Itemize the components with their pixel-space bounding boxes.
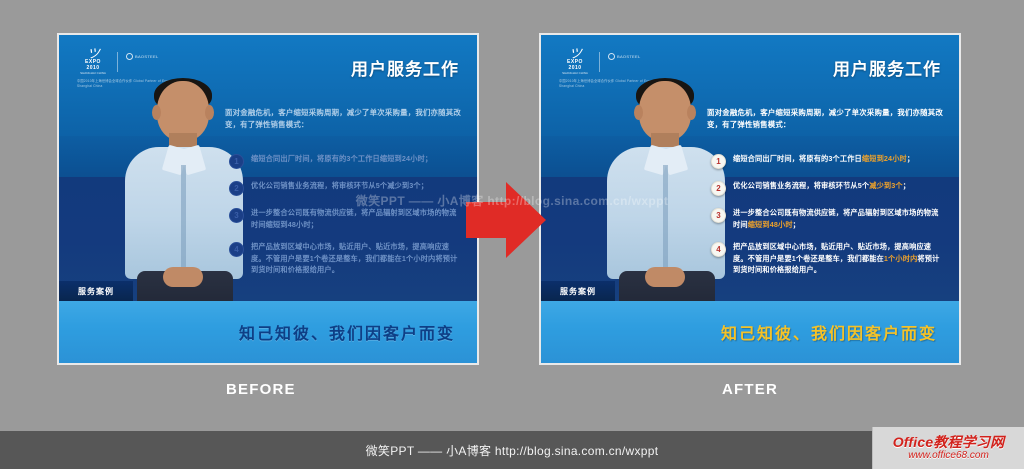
bullet-number-badge: 3 [711, 208, 726, 223]
bullet-text-plain: 优化公司销售业务流程，将审核环节从5个 [733, 181, 869, 190]
bullet-text: 缩短合同出厂时间，将原有的3个工作日缩短到24小时； [251, 153, 432, 165]
partner-dot-icon [608, 53, 615, 60]
partner-logo-icon: BAOSTEEL [126, 53, 159, 60]
bullet-text: 把产品放到区域中心市场，贴近用户、贴近市场，提高响应速度。不管用户是要1个卷还是… [733, 241, 945, 276]
photo-hands [163, 267, 203, 287]
photo-placket [663, 165, 668, 277]
logo-divider [117, 52, 118, 72]
bullet-list: 1 缩短合同出厂时间，将原有的3个工作日缩短到24小时； 2 优化公司销售业务流… [229, 153, 463, 287]
bullet-text-highlight: 减少到3个 [869, 181, 903, 190]
bullet-number-badge: 3 [229, 208, 244, 223]
slide-bottom-banner: 知己知彼、我们因客户而变 [541, 301, 959, 363]
bullet-number-badge: 4 [711, 242, 726, 257]
bullet-text: 缩短合同出厂时间，将原有的3个工作日缩短到24小时； [733, 153, 914, 165]
photo-head [639, 81, 691, 141]
intro-paragraph: 面对金融危机，客户缩短采购周期，减少了单次采购量，我们亦随其改变，有了弹性销售模… [707, 107, 943, 131]
bullet-number-badge: 1 [711, 154, 726, 169]
bullet-text: 优化公司销售业务流程，将审核环节从5个减少到3个； [251, 180, 428, 192]
bullet-number-badge: 1 [229, 154, 244, 169]
photo-head [157, 81, 209, 141]
photo-ear-left [634, 105, 643, 120]
arrow-shaft [466, 202, 510, 238]
brand-url: www.office68.com [908, 450, 989, 461]
bullet-text: 把产品放到区域中心市场，贴近用户、贴近市场，提高响应速度。不管用户是要1个卷还是… [251, 241, 463, 276]
site-brand-logo[interactable]: Office教程学习网 www.office68.com [872, 427, 1024, 469]
photo-ear-left [152, 105, 161, 120]
expo-mark-glyph: ツ [559, 49, 591, 59]
bullet-text-tail: ； [903, 181, 910, 190]
bullet-text: 进一步整合公司既有物流供应链，将产品辐射到区域市场的物流时间缩短到48小时； [251, 207, 463, 230]
slide-before: ツ EXPO 2010 SHANGHAI CHINA BAOSTEEL 中国20… [57, 33, 479, 365]
slide-title: 用户服务工作 [833, 55, 941, 80]
comparison-stage: ツ EXPO 2010 SHANGHAI CHINA BAOSTEEL 中国20… [0, 0, 1024, 469]
logo-divider [599, 52, 600, 72]
logo-group: ツ EXPO 2010 SHANGHAI CHINA BAOSTEEL [77, 49, 159, 75]
bullet-number-badge: 2 [711, 181, 726, 196]
expo-logo-icon: ツ EXPO 2010 SHANGHAI CHINA [559, 49, 591, 75]
list-item: 3 进一步整合公司既有物流供应链，将产品辐射到区域市场的物流时间缩短到48小时； [711, 207, 945, 230]
list-item: 2 优化公司销售业务流程，将审核环节从5个减少到3个； [711, 180, 945, 196]
slide-title: 用户服务工作 [351, 55, 459, 80]
arrow-head [506, 182, 546, 258]
list-item: 2 优化公司销售业务流程，将审核环节从5个减少到3个； [229, 180, 463, 196]
bullet-number-badge: 2 [229, 181, 244, 196]
list-item: 3 进一步整合公司既有物流供应链，将产品辐射到区域市场的物流时间缩短到48小时； [229, 207, 463, 230]
partner-name: BAOSTEEL [135, 54, 159, 59]
bullet-number-badge: 4 [229, 242, 244, 257]
photo-ear-right [205, 105, 214, 120]
partner-logo-icon: BAOSTEEL [608, 53, 641, 60]
bullet-text: 优化公司销售业务流程，将审核环节从5个减少到3个； [733, 180, 910, 192]
case-tag: 服务案例 [541, 281, 615, 301]
photo-ear-right [687, 105, 696, 120]
footer-text: 微笑PPT —— 小A博客 http://blog.sina.com.cn/wx… [366, 442, 659, 459]
banner-text: 知己知彼、我们因客户而变 [721, 320, 937, 344]
slide-bottom-banner: 知己知彼、我们因客户而变 [59, 301, 477, 363]
red-right-arrow-icon [466, 182, 546, 258]
photo-placket [181, 165, 186, 277]
slide-after: ツ EXPO 2010 SHANGHAI CHINA BAOSTEEL 中国20… [539, 33, 961, 365]
list-item: 4 把产品放到区域中心市场，贴近用户、贴近市场，提高响应速度。不管用户是要1个卷… [229, 241, 463, 276]
bullet-list: 1 缩短合同出厂时间，将原有的3个工作日缩短到24小时； 2 优化公司销售业务流… [711, 153, 945, 287]
expo-city: SHANGHAI CHINA [559, 71, 591, 75]
list-item: 4 把产品放到区域中心市场，贴近用户、贴近市场，提高响应速度。不管用户是要1个卷… [711, 241, 945, 276]
brand-title: Office教程学习网 [893, 435, 1005, 450]
bullet-text-plain: 缩短合同出厂时间，将原有的3个工作日 [733, 154, 862, 163]
list-item: 1 缩短合同出厂时间，将原有的3个工作日缩短到24小时； [711, 153, 945, 169]
bullet-text-highlight: 缩短到48小时 [748, 220, 793, 229]
expo-logo-icon: ツ EXPO 2010 SHANGHAI CHINA [77, 49, 109, 75]
intro-paragraph: 面对金融危机，客户缩短采购周期，减少了单次采购量，我们亦随其改变，有了弹性销售模… [225, 107, 461, 131]
bullet-text-tail: ； [793, 220, 800, 229]
bullet-text: 进一步整合公司既有物流供应链，将产品辐射到区域市场的物流时间缩短到48小时； [733, 207, 945, 230]
label-after: AFTER [722, 381, 778, 398]
expo-city: SHANGHAI CHINA [77, 71, 109, 75]
expo-mark-glyph: ツ [77, 49, 109, 59]
label-before: BEFORE [226, 381, 296, 398]
bullet-text-highlight: 缩短到24小时 [862, 154, 907, 163]
photo-hands [645, 267, 685, 287]
partner-dot-icon [126, 53, 133, 60]
list-item: 1 缩短合同出厂时间，将原有的3个工作日缩短到24小时； [229, 153, 463, 169]
banner-text: 知己知彼、我们因客户而变 [239, 320, 455, 344]
bullet-text-highlight: 1个小时内 [884, 254, 918, 263]
partner-name: BAOSTEEL [617, 54, 641, 59]
bullet-text-tail: ； [907, 154, 914, 163]
footer-bar: 微笑PPT —— 小A博客 http://blog.sina.com.cn/wx… [0, 431, 1024, 469]
case-tag: 服务案例 [59, 281, 133, 301]
logo-group: ツ EXPO 2010 SHANGHAI CHINA BAOSTEEL [559, 49, 641, 75]
